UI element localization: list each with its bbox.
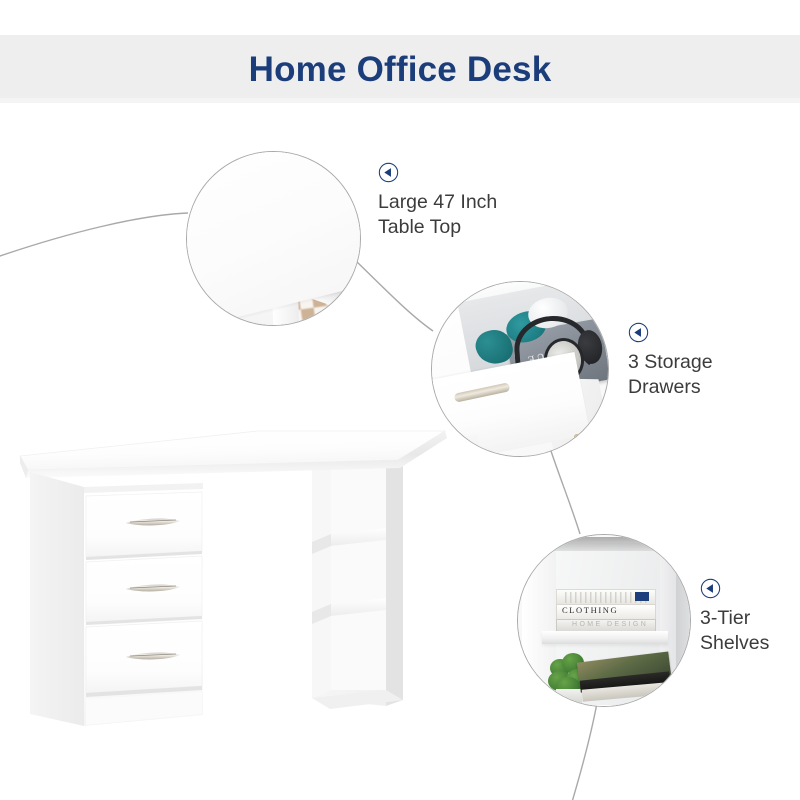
shelf-book-stack: CLOTHING HOME DESIGN xyxy=(556,589,656,633)
drawer-closeup-scene: NTIQUE xyxy=(432,282,608,456)
book-top xyxy=(556,589,656,605)
desk-shelf-unit xyxy=(312,455,403,709)
drawer-1[interactable] xyxy=(86,492,202,560)
infographic-page: Home Office Desk xyxy=(0,0,800,800)
lower-shelf-books xyxy=(578,657,670,701)
shelf-top-edge xyxy=(546,537,668,551)
drawer-2[interactable] xyxy=(86,556,202,625)
chevron-left-circle-icon[interactable] xyxy=(628,322,649,343)
shelves-closeup-scene: CLOTHING HOME DESIGN xyxy=(518,535,690,706)
shelf-outer-panel xyxy=(676,535,691,707)
chevron-left-circle-icon[interactable] xyxy=(700,578,721,599)
shelf-deck-upper xyxy=(542,631,668,644)
book-title-clothing: CLOTHING xyxy=(562,605,618,615)
zoom-inset-table-top xyxy=(186,151,361,326)
chevron-left-circle-icon[interactable] xyxy=(378,162,399,183)
callout-large-table-top: Large 47 Inch Table Top xyxy=(378,162,497,240)
callout-storage-drawers: 3 Storage Drawers xyxy=(628,322,713,400)
desk-drawer-pedestal xyxy=(30,472,203,726)
drawer-3[interactable] xyxy=(86,621,202,697)
table-top-closeup-scene xyxy=(187,152,360,325)
book-blue-tab xyxy=(635,592,649,601)
callout-tier-shelves: 3-Tier Shelves xyxy=(700,578,769,656)
callout-label: 3-Tier Shelves xyxy=(700,606,769,656)
callout-label: Large 47 Inch Table Top xyxy=(378,190,497,240)
zoom-inset-tier-shelves: CLOTHING HOME DESIGN xyxy=(517,534,691,707)
book-title-home-design: HOME DESIGN xyxy=(572,621,648,628)
cam-screw xyxy=(574,434,580,440)
zoom-inset-storage-drawer: NTIQUE xyxy=(431,281,609,457)
callout-label: 3 Storage Drawers xyxy=(628,350,713,400)
